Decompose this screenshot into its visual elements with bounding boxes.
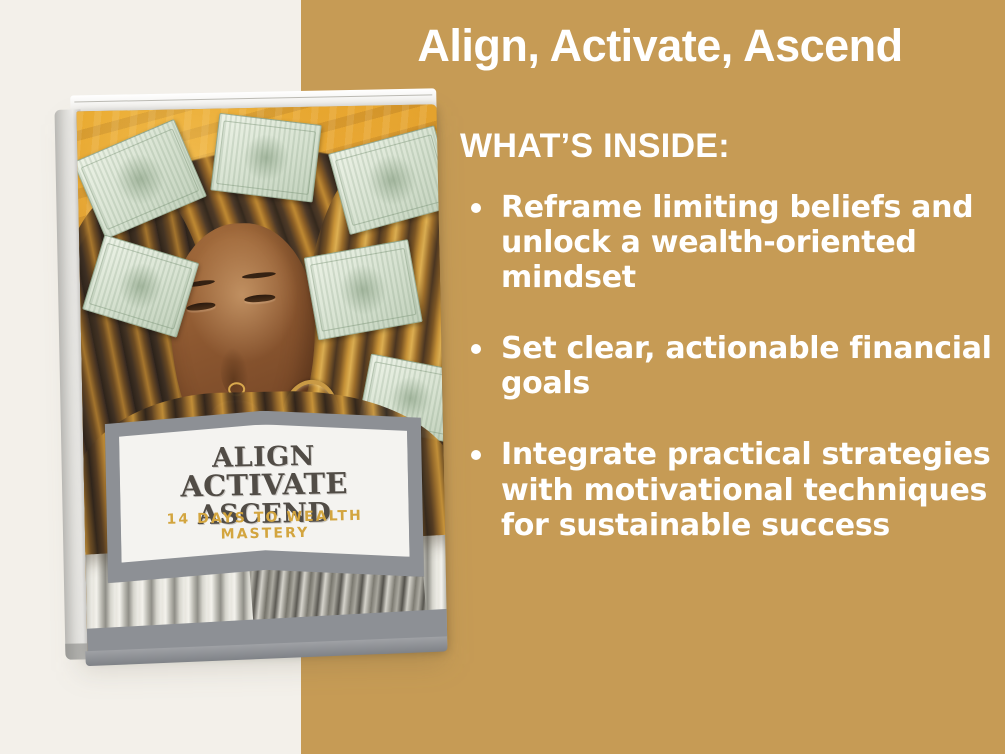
bullet-dot-icon <box>471 450 481 460</box>
cover-dollar-bill <box>210 113 321 203</box>
benefits-list: Reframe limiting beliefs and unlock a we… <box>463 190 993 543</box>
cover-subtitle-text: 14 DAYS TO WEALTH MASTERY <box>120 507 409 545</box>
cover-title-plaque: ALIGN ACTIVATE ASCEND 14 DAYS TO WEALTH … <box>104 408 424 584</box>
book-front-cover: ALIGN ACTIVATE ASCEND 14 DAYS TO WEALTH … <box>77 104 448 657</box>
list-item-label: Set clear, actionable financial goals <box>501 331 992 401</box>
cover-title-plaque-inner: ALIGN ACTIVATE ASCEND 14 DAYS TO WEALTH … <box>119 421 410 562</box>
page-title: Align, Activate, Ascend <box>340 22 980 69</box>
section-heading: WHAT’S INSIDE: <box>460 127 980 166</box>
book-mockup: ALIGN ACTIVATE ASCEND 14 DAYS TO WEALTH … <box>46 88 458 676</box>
list-item: Set clear, actionable financial goals <box>463 331 993 401</box>
list-item: Reframe limiting beliefs and unlock a we… <box>463 190 993 295</box>
bullet-dot-icon <box>471 344 481 354</box>
list-item-label: Reframe limiting beliefs and unlock a we… <box>501 190 973 295</box>
list-item-label: Integrate practical strategies with moti… <box>501 437 990 542</box>
list-item: Integrate practical strategies with moti… <box>463 437 993 542</box>
bullet-dot-icon <box>471 203 481 213</box>
slide-canvas: ALIGN ACTIVATE ASCEND 14 DAYS TO WEALTH … <box>0 0 1005 754</box>
